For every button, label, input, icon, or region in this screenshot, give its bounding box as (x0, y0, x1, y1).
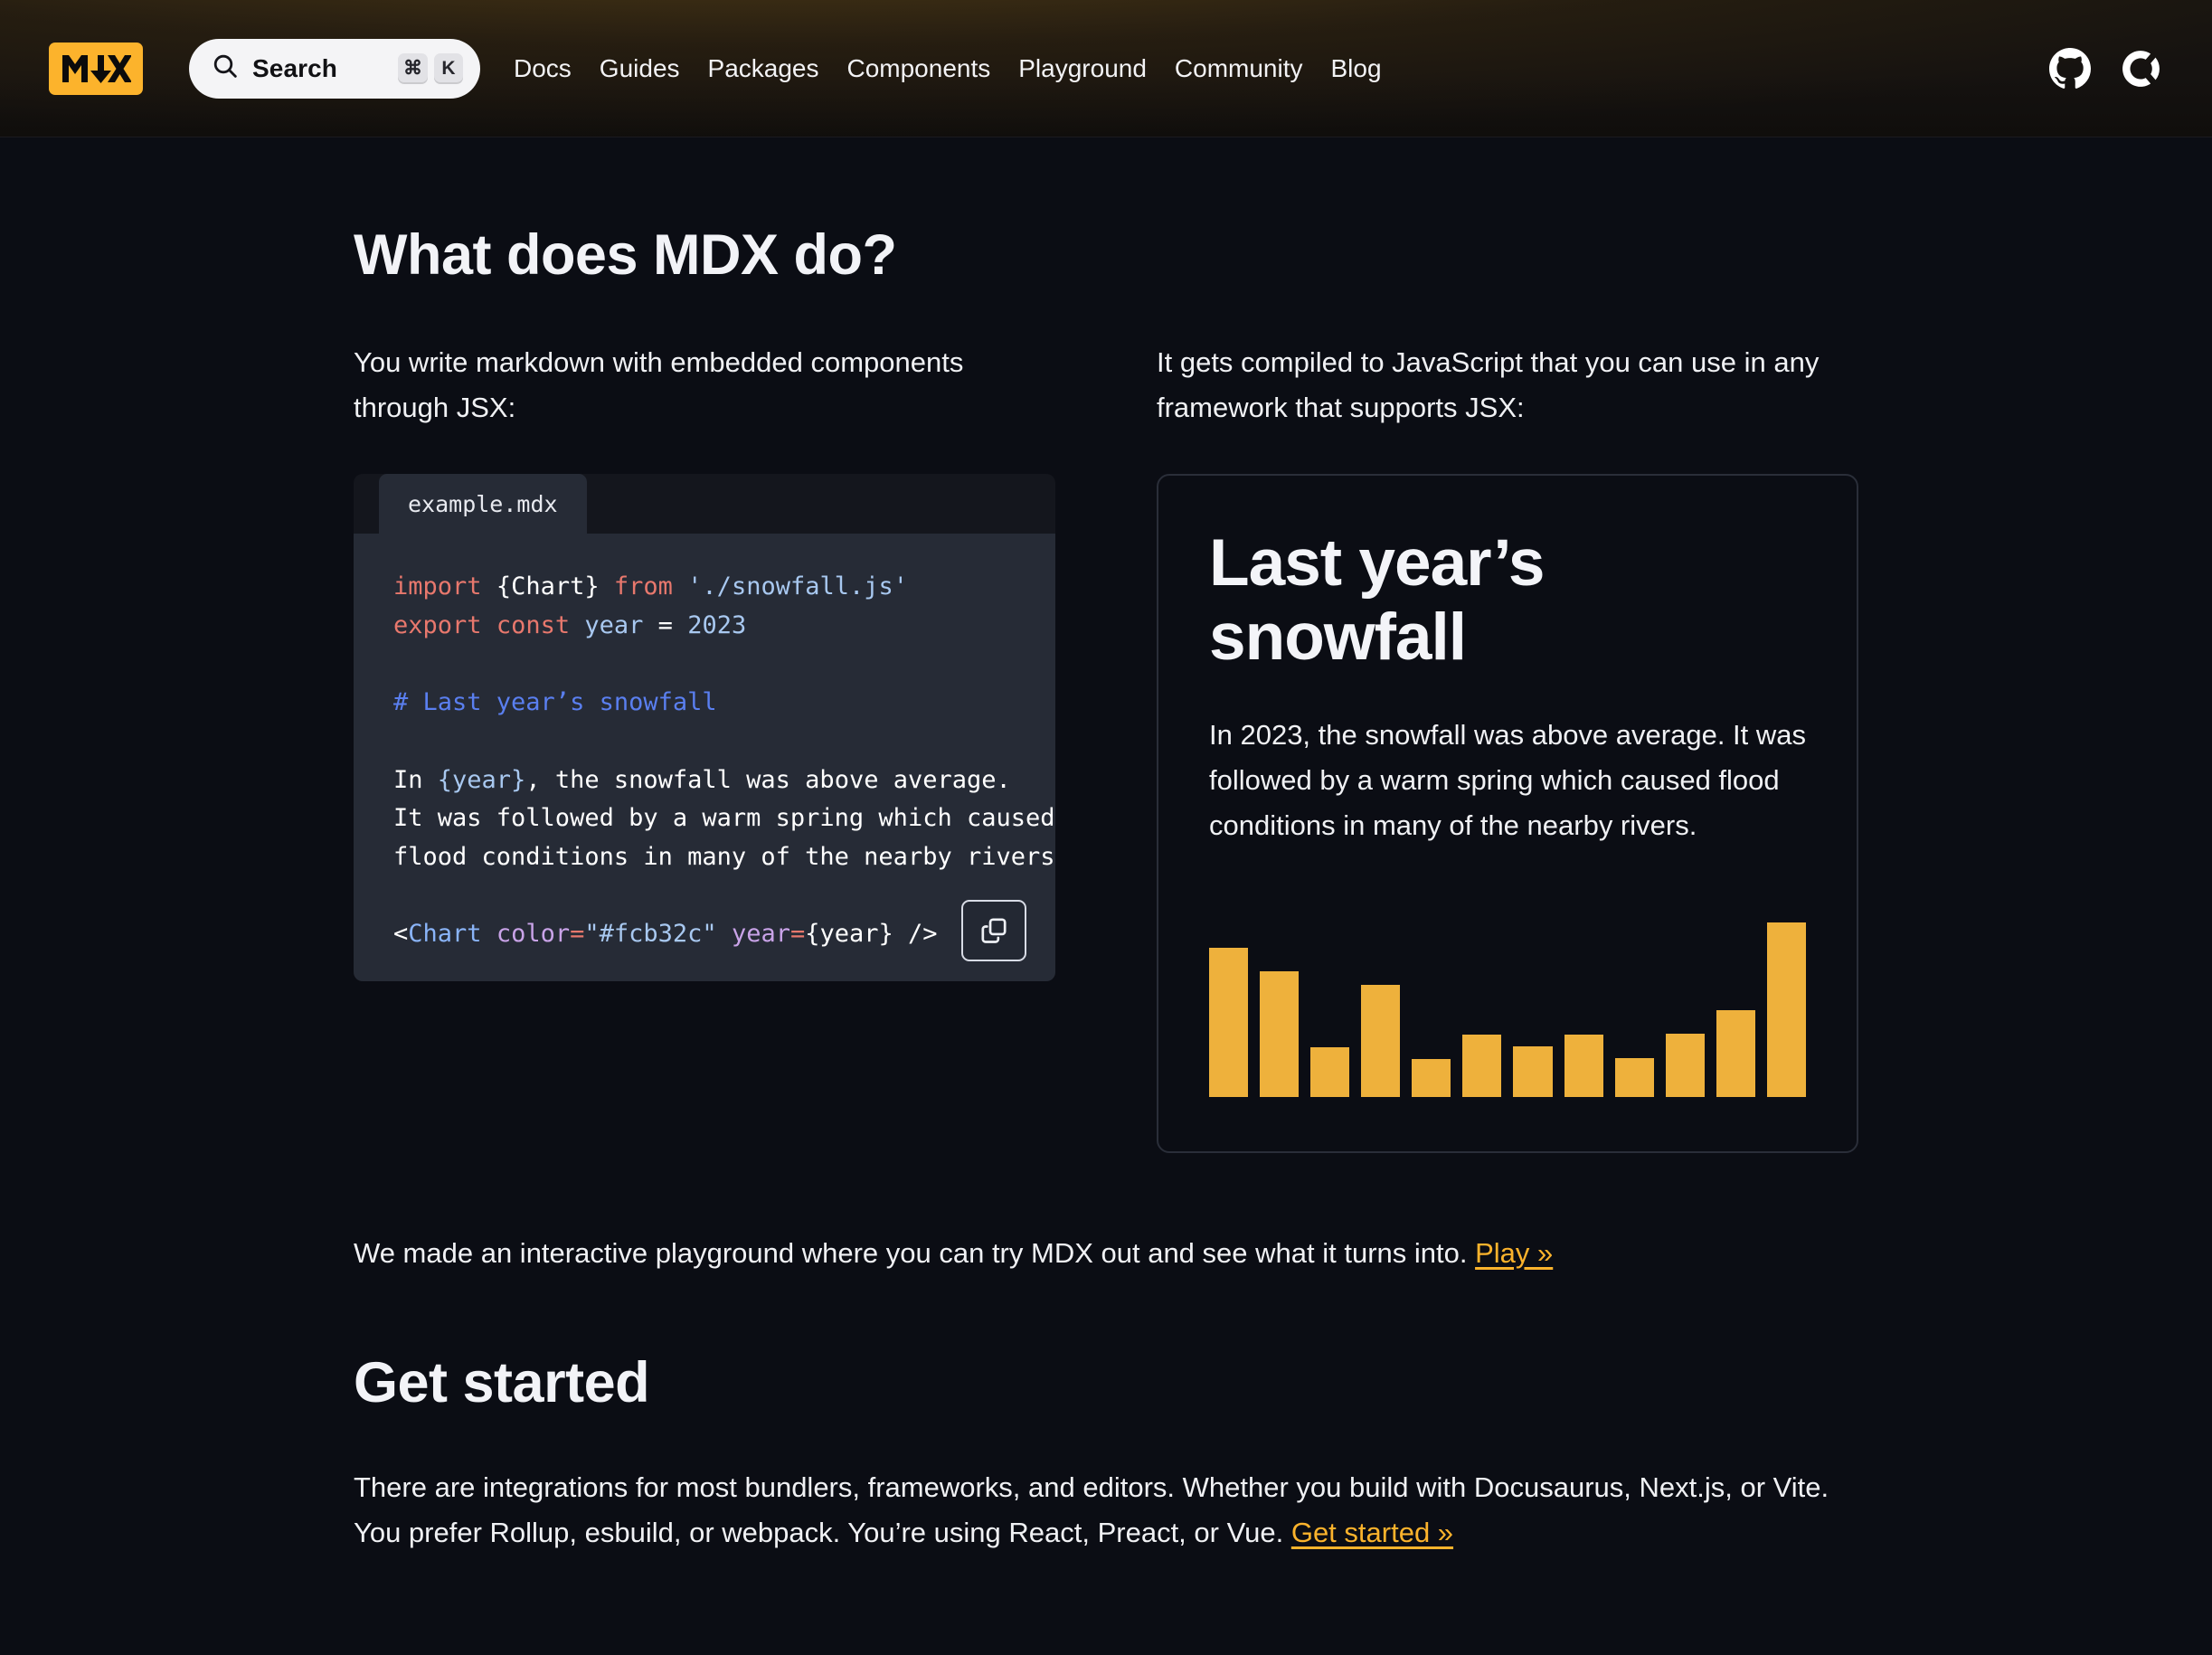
page-title-get-started: Get started (354, 1350, 1858, 1415)
column-source: You write markdown with embedded compone… (354, 340, 1055, 981)
code-tab-bar: example.mdx (354, 474, 1055, 534)
chart-bar (1716, 1010, 1755, 1097)
content-container: What does MDX do? You write markdown wit… (138, 222, 2074, 1556)
nav-link-components[interactable]: Components (846, 56, 990, 81)
search-box[interactable]: Search ⌘ K (189, 39, 480, 99)
preview-card: Last year’s snowfall In 2023, the snowfa… (1157, 474, 1858, 1152)
open-collective-icon[interactable] (2120, 48, 2161, 90)
copy-icon (978, 915, 1009, 946)
nav-link-packages[interactable]: Packages (708, 56, 819, 81)
nav-link-blog[interactable]: Blog (1331, 56, 1382, 81)
lead-paragraph-right: It gets compiled to JavaScript that you … (1157, 340, 1858, 430)
search-shortcut: ⌘ K (398, 53, 463, 84)
get-started-link[interactable]: Get started » (1291, 1517, 1453, 1548)
kbd-k: K (434, 53, 463, 84)
playground-paragraph: We made an interactive playground where … (354, 1231, 1858, 1276)
chart-bar (1462, 1035, 1501, 1097)
get-started-paragraph-text: There are integrations for most bundlers… (354, 1471, 1829, 1548)
chart-bar (1310, 1047, 1349, 1097)
chart-bar (1615, 1058, 1654, 1097)
kbd-command: ⌘ (398, 53, 428, 84)
chart-bar (1361, 985, 1400, 1097)
nav-link-docs[interactable]: Docs (514, 56, 572, 81)
chart-bar (1412, 1059, 1451, 1097)
mdx-logo-icon (61, 52, 131, 85)
code-content[interactable]: import {Chart} from './snowfall.js' expo… (393, 568, 1055, 954)
nav-link-playground[interactable]: Playground (1018, 56, 1147, 81)
chart-bar (1209, 948, 1248, 1097)
github-icon[interactable] (2049, 48, 2091, 90)
nav-link-community[interactable]: Community (1175, 56, 1303, 81)
chart-bar (1513, 1046, 1552, 1097)
playground-paragraph-text: We made an interactive playground where … (354, 1237, 1475, 1269)
code-body: import {Chart} from './snowfall.js' expo… (354, 534, 1055, 981)
page-title-what-does-mdx-do: What does MDX do? (354, 222, 1858, 288)
two-column-layout: You write markdown with embedded compone… (354, 340, 1858, 1153)
code-tab-example-mdx[interactable]: example.mdx (379, 474, 587, 534)
main-nav: Docs Guides Packages Components Playgrou… (514, 56, 1382, 81)
chart-bar (1767, 922, 1806, 1097)
chart-bar (1666, 1034, 1705, 1097)
preview-paragraph: In 2023, the snowfall was above average.… (1209, 713, 1806, 849)
site-header: Search ⌘ K Docs Guides Packages Componen… (0, 0, 2212, 137)
column-output: It gets compiled to JavaScript that you … (1157, 340, 1858, 1153)
nav-link-guides[interactable]: Guides (600, 56, 680, 81)
get-started-paragraph: There are integrations for most bundlers… (354, 1465, 1858, 1556)
search-icon (211, 52, 240, 85)
page-main: What does MDX do? You write markdown wit… (0, 222, 2212, 1556)
snowfall-bar-chart (1209, 889, 1806, 1097)
preview-heading: Last year’s snowfall (1209, 526, 1806, 675)
code-block: example.mdx import {Chart} from './snowf… (354, 474, 1055, 981)
lead-paragraph-left: You write markdown with embedded compone… (354, 340, 1055, 430)
search-label: Search (252, 54, 337, 83)
copy-code-button[interactable] (961, 900, 1026, 961)
mdx-logo[interactable] (49, 43, 143, 95)
header-icon-group (2049, 48, 2161, 90)
chart-bar (1564, 1035, 1603, 1097)
chart-bar (1260, 971, 1299, 1097)
play-link[interactable]: Play » (1475, 1237, 1553, 1269)
